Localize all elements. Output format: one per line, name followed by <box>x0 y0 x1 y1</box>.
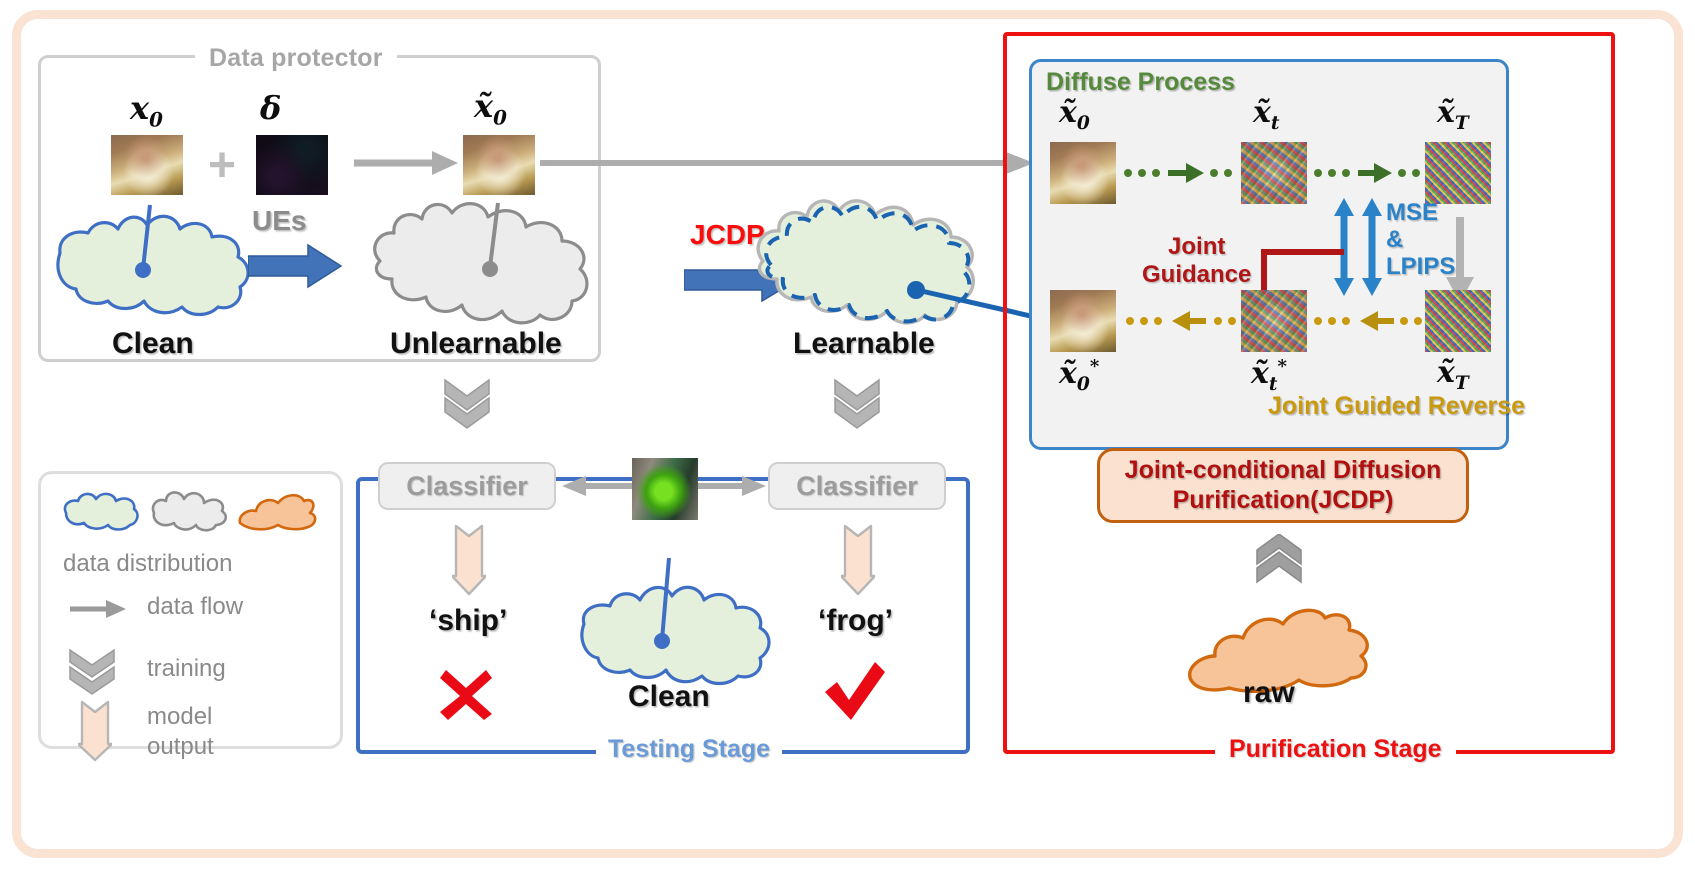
reverse-thumbnail-xt <box>1241 290 1307 352</box>
test-image-thumbnail <box>632 458 698 520</box>
incorrect-cross-icon <box>438 666 494 722</box>
arrow-to-left-classifier <box>562 472 636 500</box>
training-chevron-right <box>833 378 881 430</box>
purification-stage-label: Purification Stage <box>1215 735 1456 764</box>
forward-arrow-2 <box>1312 155 1424 191</box>
forward-label-x0: x̃0 <box>1059 98 1090 134</box>
legend-model-output-line1: model <box>147 703 212 731</box>
right-model-output-arrow <box>841 524 875 596</box>
forward-thumbnail-xT <box>1425 142 1491 204</box>
jcdp-method-box: Joint-conditional Diffusion Purification… <box>1097 448 1469 523</box>
right-classifier-box[interactable]: Classifier <box>768 462 946 510</box>
training-chevron-left <box>443 378 491 430</box>
clean-data-distribution-blob <box>40 185 270 325</box>
reverse-label-x0-star: x̃0* <box>1059 358 1099 395</box>
joint-guidance-label: Joint Guidance <box>1142 233 1251 290</box>
right-prediction-label: ‘frog’ <box>818 604 893 638</box>
legend-unlearnable-blob-icon <box>148 487 230 535</box>
ues-block-arrow <box>248 243 343 289</box>
arrow-right-icon <box>68 595 128 623</box>
correct-check-icon <box>823 662 887 724</box>
delta-label: δ <box>260 92 281 124</box>
data-flow-arrow-1 <box>352 143 462 183</box>
legend-model-output-line2: output <box>147 733 214 761</box>
arrow-to-right-classifier <box>694 472 766 500</box>
legend-raw-blob-icon <box>236 487 318 535</box>
learnable-label: Learnable <box>793 327 935 361</box>
legend-training-label: training <box>147 655 226 683</box>
left-model-output-arrow <box>452 524 486 596</box>
unlearnable-x0-label: x̃0 <box>474 90 507 128</box>
x0-label: x0 <box>130 92 163 130</box>
figure-canvas: Data protector x0 + δ x̃0 UEs Cl <box>0 0 1695 870</box>
left-prediction-label: ‘ship’ <box>429 604 507 638</box>
forward-thumbnail-x0 <box>1050 142 1116 204</box>
data-protector-title: Data protector <box>195 44 397 73</box>
double-chevron-down-icon <box>68 648 116 696</box>
testing-clean-label: Clean <box>628 680 710 714</box>
testing-clean-blob <box>566 558 781 693</box>
reverse-label-xt-star: x̃t* <box>1251 358 1287 395</box>
legend-data-flow-label: data flow <box>147 593 243 621</box>
reverse-thumbnail-xT <box>1425 290 1491 352</box>
left-classifier-box[interactable]: Classifier <box>378 462 556 510</box>
jcdp-box-line1: Joint-conditional Diffusion <box>1125 456 1442 486</box>
forward-label-xt: x̃t <box>1253 98 1279 134</box>
reverse-arrow-1 <box>1122 303 1238 339</box>
joint-guided-reverse-title: Joint Guided Reverse <box>1268 392 1525 421</box>
legend-clean-blob-icon <box>60 487 142 535</box>
mse-lpips-label: MSE & LPIPS <box>1386 200 1455 281</box>
unlearnable-label: Unlearnable <box>390 327 562 361</box>
ues-label: UEs <box>252 205 306 237</box>
reverse-arrow-2 <box>1312 303 1424 339</box>
legend-distribution-label: data distribution <box>63 550 232 578</box>
forward-label-xT: x̃T <box>1437 98 1469 134</box>
testing-stage-label: Testing Stage <box>596 735 782 764</box>
double-chevron-up-icon <box>1255 534 1303 586</box>
forward-arrow-1 <box>1122 155 1238 191</box>
block-arrow-down-icon <box>78 700 112 762</box>
clean-label: Clean <box>112 327 194 361</box>
diffuse-process-title: Diffuse Process <box>1046 68 1235 97</box>
unlearnable-data-distribution-blob <box>358 185 608 335</box>
forward-thumbnail-xt <box>1241 142 1307 204</box>
raw-label: raw <box>1243 676 1295 710</box>
reverse-thumbnail-x0 <box>1050 290 1116 352</box>
reverse-label-xT: x̃T <box>1437 358 1469 394</box>
jcdp-box-line2: Purification(JCDP) <box>1125 486 1442 516</box>
plus-sign: + <box>208 142 236 190</box>
